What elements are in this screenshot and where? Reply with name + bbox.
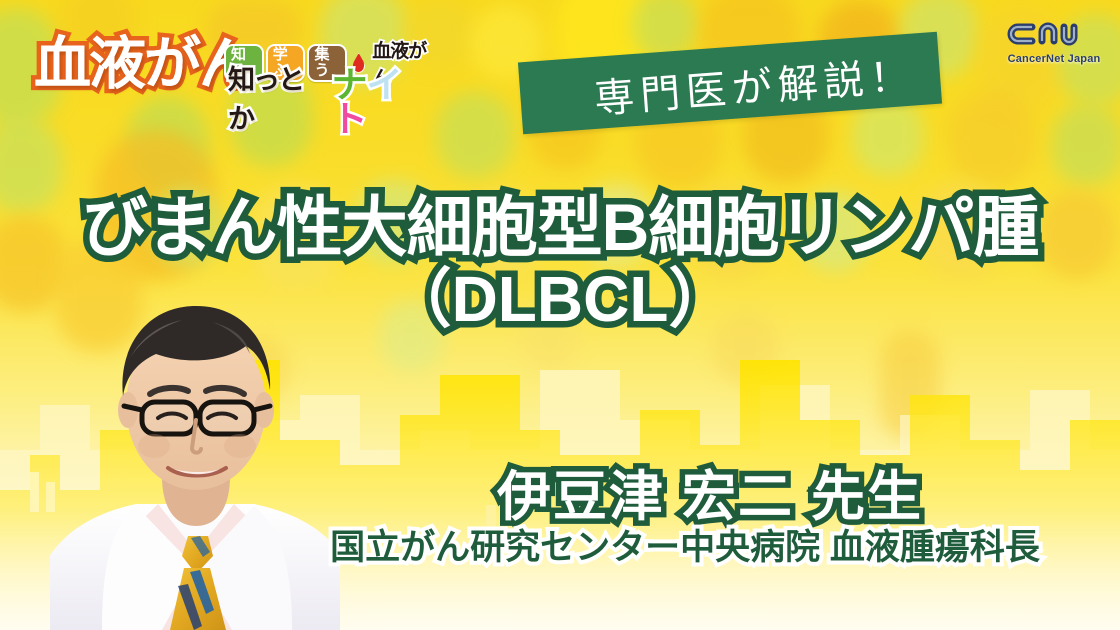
title-line-2: （DLBCL） [0,262,1120,338]
logo-sub-text: 知っとか [228,58,326,136]
slide-canvas: 血液がん 血液がん 知る 学ぶ 集う 血液がん 知っとか ナイト [0,0,1120,630]
logo-subtitle: 知っとか ナイト [228,58,434,136]
main-title: びまん性大細胞型B細胞リンパ腫 （DLBCL） [0,193,1120,338]
logo-night-word: ナイト [332,68,434,136]
cancernet-japan-logo: CancerNet Japan [1002,18,1106,65]
bokeh-shape [948,90,1036,186]
cnj-mark-icon [1002,18,1106,50]
program-logo: 血液がん 血液がん 知る 学ぶ 集う 血液がん 知っとか ナイト [34,14,434,94]
logo-night-char-i: イ [367,64,402,105]
speaker-affiliation: 国立がん研究センター中央病院 血液腫瘍科長 [280,519,1090,570]
logo-main-text-fill: 血液がん [34,18,254,100]
bokeh-shape [436,92,514,178]
title-line-1: びまん性大細胞型B細胞リンパ腫 [0,193,1120,262]
cnj-caption: CancerNet Japan [1002,53,1106,65]
bokeh-shape [1052,104,1120,186]
logo-night-char-to: ト [332,98,367,139]
